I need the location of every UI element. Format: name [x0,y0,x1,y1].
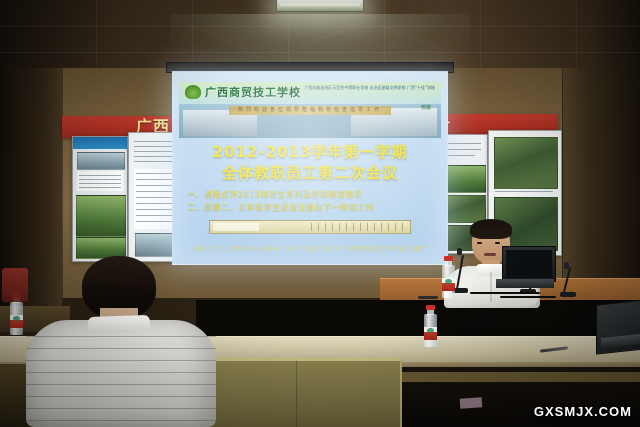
laptop [496,246,554,290]
slide-title-line1: 2012-2013学年第一学期 [213,143,408,161]
slide-school-subtitle: 广西壮族自治区示范性中等职业学校 自治区星级文明学校 广西“十佳”学校 [304,85,435,91]
slide-banner-strip-text: 热烈欢迎各位领导莅临我校检查指导工作 [229,106,391,115]
water-bottle [424,305,437,347]
school-logo-icon [185,85,201,99]
slide-footer-text: 时间：2012年8月28日19：30时 地点：南宁·广西商贸技工学校多功能厅 [173,244,447,253]
red-bag [2,268,28,302]
slide-input-box [209,220,411,234]
laptop [596,299,640,354]
school-seal: 校徽 [421,104,431,111]
watermark: GXSMJX.COM [534,404,632,419]
slide-bullet-list: 一、通报点评2012级新生系列及学前教育情况 二、部署二、三年级学生返校注册及下… [187,188,437,214]
speaker-hair [470,219,512,239]
attendee-collar [88,315,151,333]
ceiling-light-fixture [276,0,364,12]
foreground-attendee [26,256,216,427]
right-wall [562,68,640,308]
campus-overview-poster [72,136,128,262]
slide-bullet-2: 二、部署二、三年级学生返校注册及下一阶段工作 [187,201,437,214]
water-bottle [442,256,453,292]
slide-header-graphic: 广西商贸技工学校 广西壮族自治区示范性中等职业学校 自治区星级文明学校 广西“十… [179,82,441,138]
slide-title: 2012-2013学年第一学期 全体教职员工第二次会议 [173,142,447,184]
projection-screen: 广西商贸技工学校 广西壮族自治区示范性中等职业学校 自治区星级文明学校 广西“十… [172,71,448,265]
slide-bullet-1: 一、通报点评2012级新生系列及学前教育情况 [187,188,437,201]
attendee-striped-shirt [26,320,216,427]
photo-scene: 广西 划简介 [0,0,640,427]
foreground-desk-panel [190,358,402,427]
notepaper [460,397,483,409]
slide-title-line2: 全体教职员工第二次会议 [173,163,447,184]
desk-shelf [400,372,640,382]
slide-school-name: 广西商贸技工学校 [205,84,301,100]
pen [418,296,438,299]
